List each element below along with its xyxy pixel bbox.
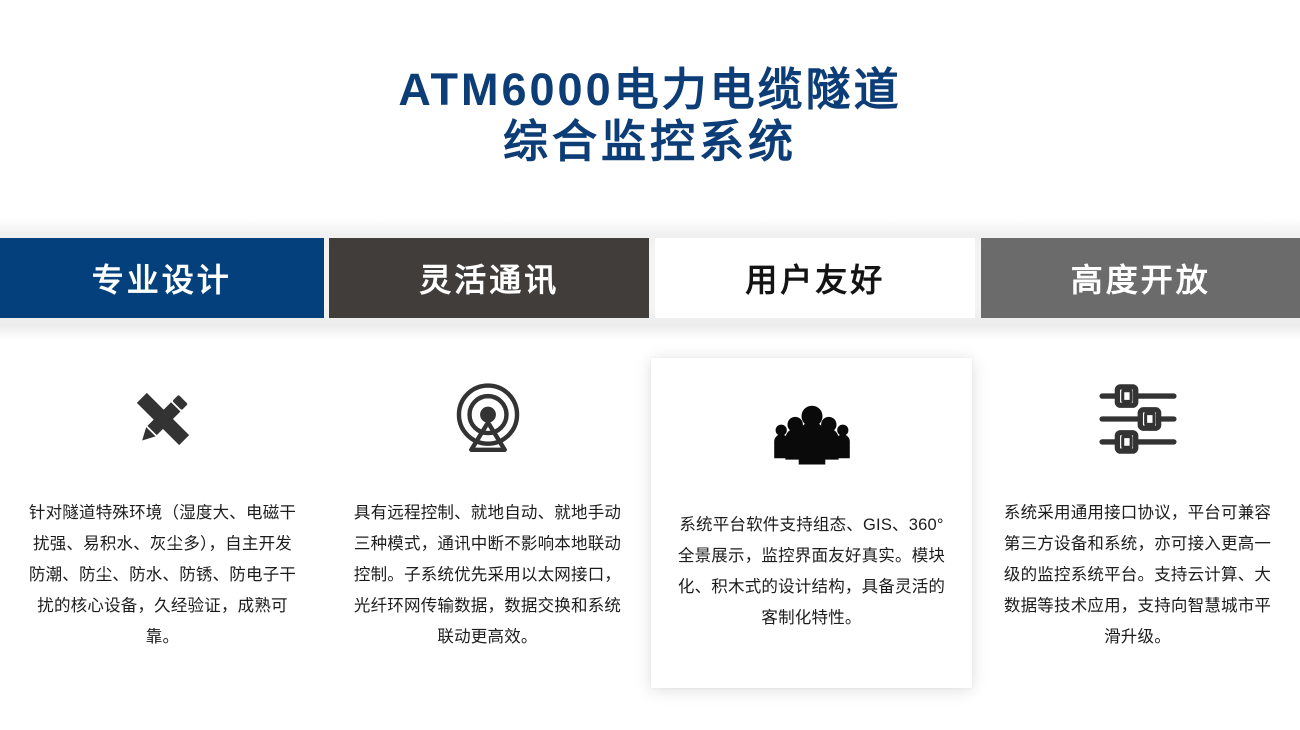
feature-column-highly-open: 系统采用通用接口协议，平台可兼容第三方设备和系统，亦可接入更高一级的监控系统平台…: [975, 340, 1300, 730]
page-header: ATM6000电力电缆隧道 综合监控系统: [0, 0, 1300, 218]
feature-description: 具有远程控制、就地自动、就地手动三种模式，通讯中断不影响本地联动控制。子系统优先…: [325, 498, 650, 653]
tab-user-friendly[interactable]: 用户友好: [655, 238, 976, 318]
feature-card-highlighted: 系统平台软件支持组态、GIS、360°全景展示，监控界面友好真实。模块化、积木式…: [651, 358, 972, 688]
pencil-ruler-icon: [0, 374, 325, 464]
feature-column-professional-design: 针对隧道特殊环境（湿度大、电磁干扰强、易积水、灰尘多），自主开发防潮、防尘、防水…: [0, 340, 325, 730]
feature-columns: 针对隧道特殊环境（湿度大、电磁干扰强、易积水、灰尘多），自主开发防潮、防尘、防水…: [0, 340, 1300, 730]
feature-column-flexible-communication: 具有远程控制、就地自动、就地手动三种模式，通讯中断不影响本地联动控制。子系统优先…: [325, 340, 650, 730]
feature-column-user-friendly: 系统平台软件支持组态、GIS、360°全景展示，监控界面友好真实。模块化、积木式…: [650, 340, 975, 730]
feature-description: 针对隧道特殊环境（湿度大、电磁干扰强、易积水、灰尘多），自主开发防潮、防尘、防水…: [0, 498, 325, 653]
broadcast-antenna-icon: [325, 374, 650, 464]
feature-description: 系统平台软件支持组态、GIS、360°全景展示，监控界面友好真实。模块化、积木式…: [651, 510, 972, 634]
users-group-icon: [651, 388, 972, 478]
page-title-line-1: ATM6000电力电缆隧道: [398, 64, 901, 116]
feature-description: 系统采用通用接口协议，平台可兼容第三方设备和系统，亦可接入更高一级的监控系统平台…: [975, 498, 1300, 653]
tab-professional-design[interactable]: 专业设计: [0, 238, 324, 318]
sliders-settings-icon: [975, 374, 1300, 464]
feature-tab-bar: 专业设计 灵活通讯 用户友好 高度开放: [0, 238, 1300, 318]
tab-flexible-communication[interactable]: 灵活通讯: [329, 238, 649, 318]
page-title-line-2: 综合监控系统: [503, 116, 797, 168]
tab-highly-open[interactable]: 高度开放: [981, 238, 1300, 318]
